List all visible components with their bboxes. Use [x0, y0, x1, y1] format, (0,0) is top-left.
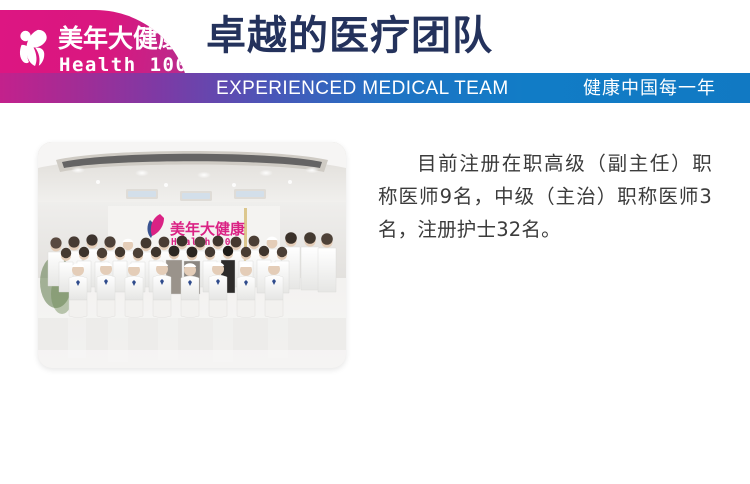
butterfly-person-logo-icon — [12, 24, 60, 72]
svg-text:美年大健康: 美年大健康 — [170, 220, 246, 238]
medical-team-group-photo: 美年大健康 Health 100 — [38, 142, 346, 368]
page-title: 卓越的医疗团队 — [206, 13, 493, 59]
team-description-paragraph: 目前注册在职高级（副主任）职称医师9名，中级（主治）职称医师3名，注册护士32名… — [378, 147, 712, 246]
brand-wordmark-cn: 美年大健康 — [58, 26, 183, 51]
page-header: 美年大健康 Health 100 中国体检行业A股上市企业 卓越的医疗团队 EX… — [0, 0, 750, 112]
banner-subtitle-en: EXPERIENCED MEDICAL TEAM — [216, 78, 509, 99]
banner-slogan-cn: 健康中国每一年 — [583, 78, 716, 99]
